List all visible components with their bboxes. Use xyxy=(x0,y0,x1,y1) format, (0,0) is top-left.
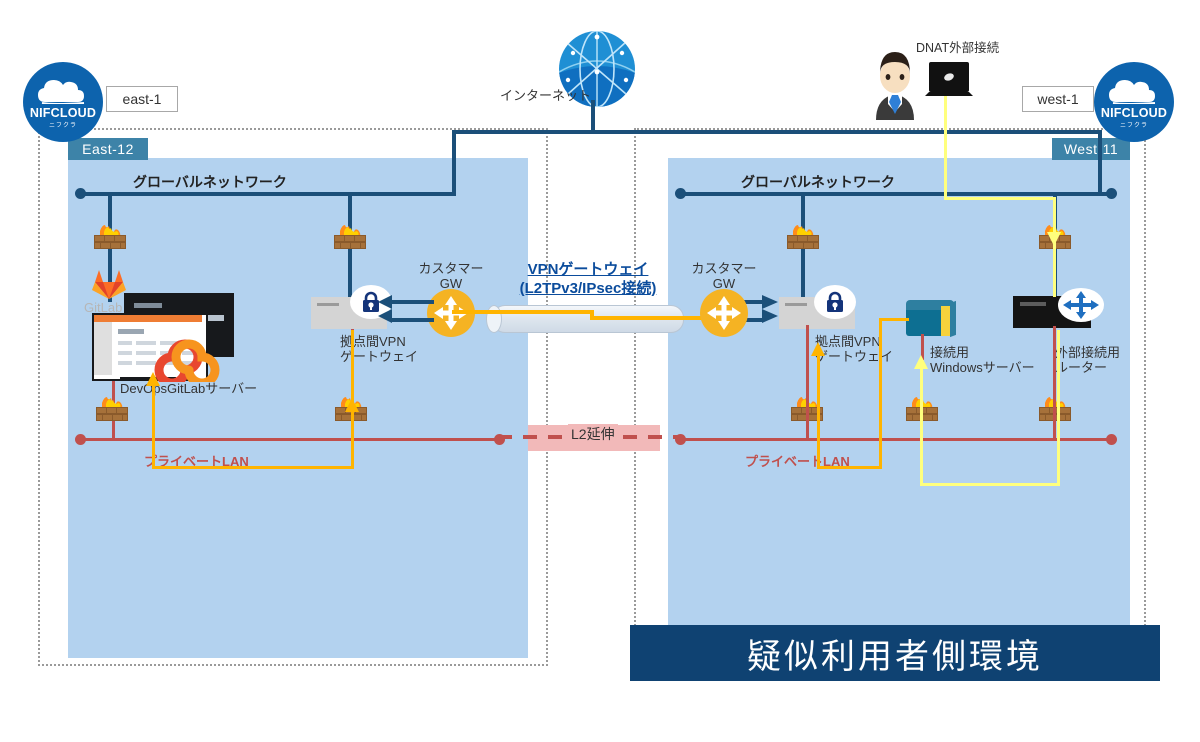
east-l2-loop-left xyxy=(152,386,155,468)
devops-server-label: DevOpsGitLabサーバー xyxy=(120,378,257,397)
west-customer-gw-label: カスタマー GW xyxy=(679,261,769,291)
west-ext-router-label: 外部接続用 ルーター xyxy=(1055,345,1145,375)
region-chip-west-1: west-1 xyxy=(1022,86,1094,112)
west-router-private-link xyxy=(1053,326,1056,440)
east-cgw-line2: GW xyxy=(440,276,462,291)
person-icon xyxy=(864,48,926,120)
west-vpngw-private-link xyxy=(806,325,809,440)
west-vpn-gateway-label: 拠点間VPN ゲートウェイ xyxy=(815,334,907,364)
internet-label: インターネット xyxy=(500,85,591,104)
cloud-brand-west: NIFCLOUD xyxy=(1094,106,1174,120)
west-global-bus xyxy=(680,192,1112,196)
west-l2-loop-bottom xyxy=(817,466,882,469)
east-private-bus xyxy=(80,438,500,441)
west-private-bus-endpoint-right xyxy=(1106,434,1117,445)
zone-tab-east-12: East-12 xyxy=(68,138,148,160)
cloud-brand-east: NIFCLOUD xyxy=(23,106,103,120)
tunnel-orange-left xyxy=(452,310,592,314)
west-global-network-label: グローバルネットワーク xyxy=(741,172,895,192)
dnat-yellow-bottom xyxy=(920,483,1060,486)
zone-tab-west-11: West-11 xyxy=(1052,138,1130,160)
gitlab-icon xyxy=(90,268,128,302)
tunnel-orange-step xyxy=(590,310,594,320)
zone-east-12 xyxy=(68,158,528,658)
west-private-bus xyxy=(680,438,1112,441)
east-private-bus-endpoint-left xyxy=(75,434,86,445)
west-l2-loop-top xyxy=(879,318,909,321)
west-l2-loop-left xyxy=(817,356,820,468)
tunnel-label-line1: VPNゲートウェイ xyxy=(528,261,649,278)
west-cgw-line2: GW xyxy=(713,276,735,291)
west-router-line2: ルーター xyxy=(1055,360,1107,375)
west-global-bus-endpoint-left xyxy=(675,188,686,199)
four-way-arrow-icon xyxy=(706,295,742,331)
router-arrows-icon xyxy=(1063,291,1099,319)
east-fw2-uplink xyxy=(348,192,352,310)
lock-icon xyxy=(821,288,849,316)
firewall-icon xyxy=(333,224,367,250)
west-cgw-line1: カスタマー xyxy=(691,261,756,276)
east-tunnel-navy-b xyxy=(390,318,434,322)
arrow-up-icon xyxy=(145,372,161,390)
dnat-client-label: DNAT外部接続 xyxy=(916,37,999,56)
east-global-network-label: グローバルネットワーク xyxy=(133,172,287,192)
east-customer-gw-label: カスタマー GW xyxy=(406,261,496,291)
l2-extension-label: L2延伸 xyxy=(568,424,618,444)
cloud-icon xyxy=(37,78,89,104)
arrow-left-icon xyxy=(378,294,394,324)
pseudo-user-env-banner: 疑似利用者側環境 xyxy=(630,625,1160,681)
east-l2-loop-bottom xyxy=(152,466,354,469)
tunnel-label-line2: (L2TPv3/IPsec接続) xyxy=(520,280,657,297)
west-router-line1: 外部接続用 xyxy=(1055,345,1120,360)
banner-label: 疑似利用者側環境 xyxy=(747,629,1043,678)
arrow-up-icon xyxy=(913,355,929,373)
arrow-right-icon xyxy=(760,294,778,324)
west-windows-server-label: 接続用 Windowsサーバー xyxy=(930,345,1050,375)
vpn-tunnel-label: VPNゲートウェイ (L2TPv3/IPsec接続) xyxy=(492,260,684,298)
east-global-bus-endpoint xyxy=(75,188,86,199)
west-winsrv-line2: Windowsサーバー xyxy=(930,360,1035,375)
east-cgw-line1: カスタマー xyxy=(418,261,483,276)
west-windows-server-stripe xyxy=(941,306,950,336)
laptop-icon xyxy=(925,62,973,100)
dnat-yellow-to-router xyxy=(1053,197,1056,297)
dnat-yellow-up-to-win xyxy=(920,368,923,486)
west-winsrv-line1: 接続用 xyxy=(930,345,969,360)
cloud-badge-east: NIFCLOUD ニフクラ xyxy=(23,62,103,142)
west-windows-server-side xyxy=(950,301,956,337)
cloud-sub-east: ニフクラ xyxy=(23,120,103,129)
arrow-down-icon xyxy=(1046,228,1062,246)
region-chip-east-1: east-1 xyxy=(106,86,178,112)
firewall-icon xyxy=(786,224,820,250)
diagram-canvas: East-12 West-11 インターネット xyxy=(0,0,1200,742)
west-l2-loop-right xyxy=(879,318,882,468)
internet-bus-line xyxy=(452,130,1102,134)
east-vpn-gw-line1: 拠点間VPN xyxy=(340,334,406,349)
cloud-icon xyxy=(1108,78,1160,104)
firewall-icon xyxy=(93,224,127,250)
cloud-sub-west: ニフクラ xyxy=(1094,120,1174,129)
east-tunnel-navy-a xyxy=(390,300,434,304)
internet-west-drop xyxy=(1098,130,1102,194)
dnat-yellow-from-client xyxy=(944,92,947,200)
firewall-icon xyxy=(95,396,129,422)
internet-drop-line xyxy=(591,100,595,132)
dnat-yellow-router-down xyxy=(1057,330,1060,486)
west-global-bus-endpoint-right xyxy=(1106,188,1117,199)
arrow-up-icon xyxy=(344,398,360,416)
east-global-bus xyxy=(80,192,450,196)
internet-east-drop xyxy=(452,130,456,194)
cloud-badge-west: NIFCLOUD ニフクラ xyxy=(1094,62,1174,142)
dnat-yellow-top xyxy=(944,197,1056,200)
arrow-up-icon xyxy=(810,342,826,360)
west-fw1-uplink xyxy=(801,192,805,310)
